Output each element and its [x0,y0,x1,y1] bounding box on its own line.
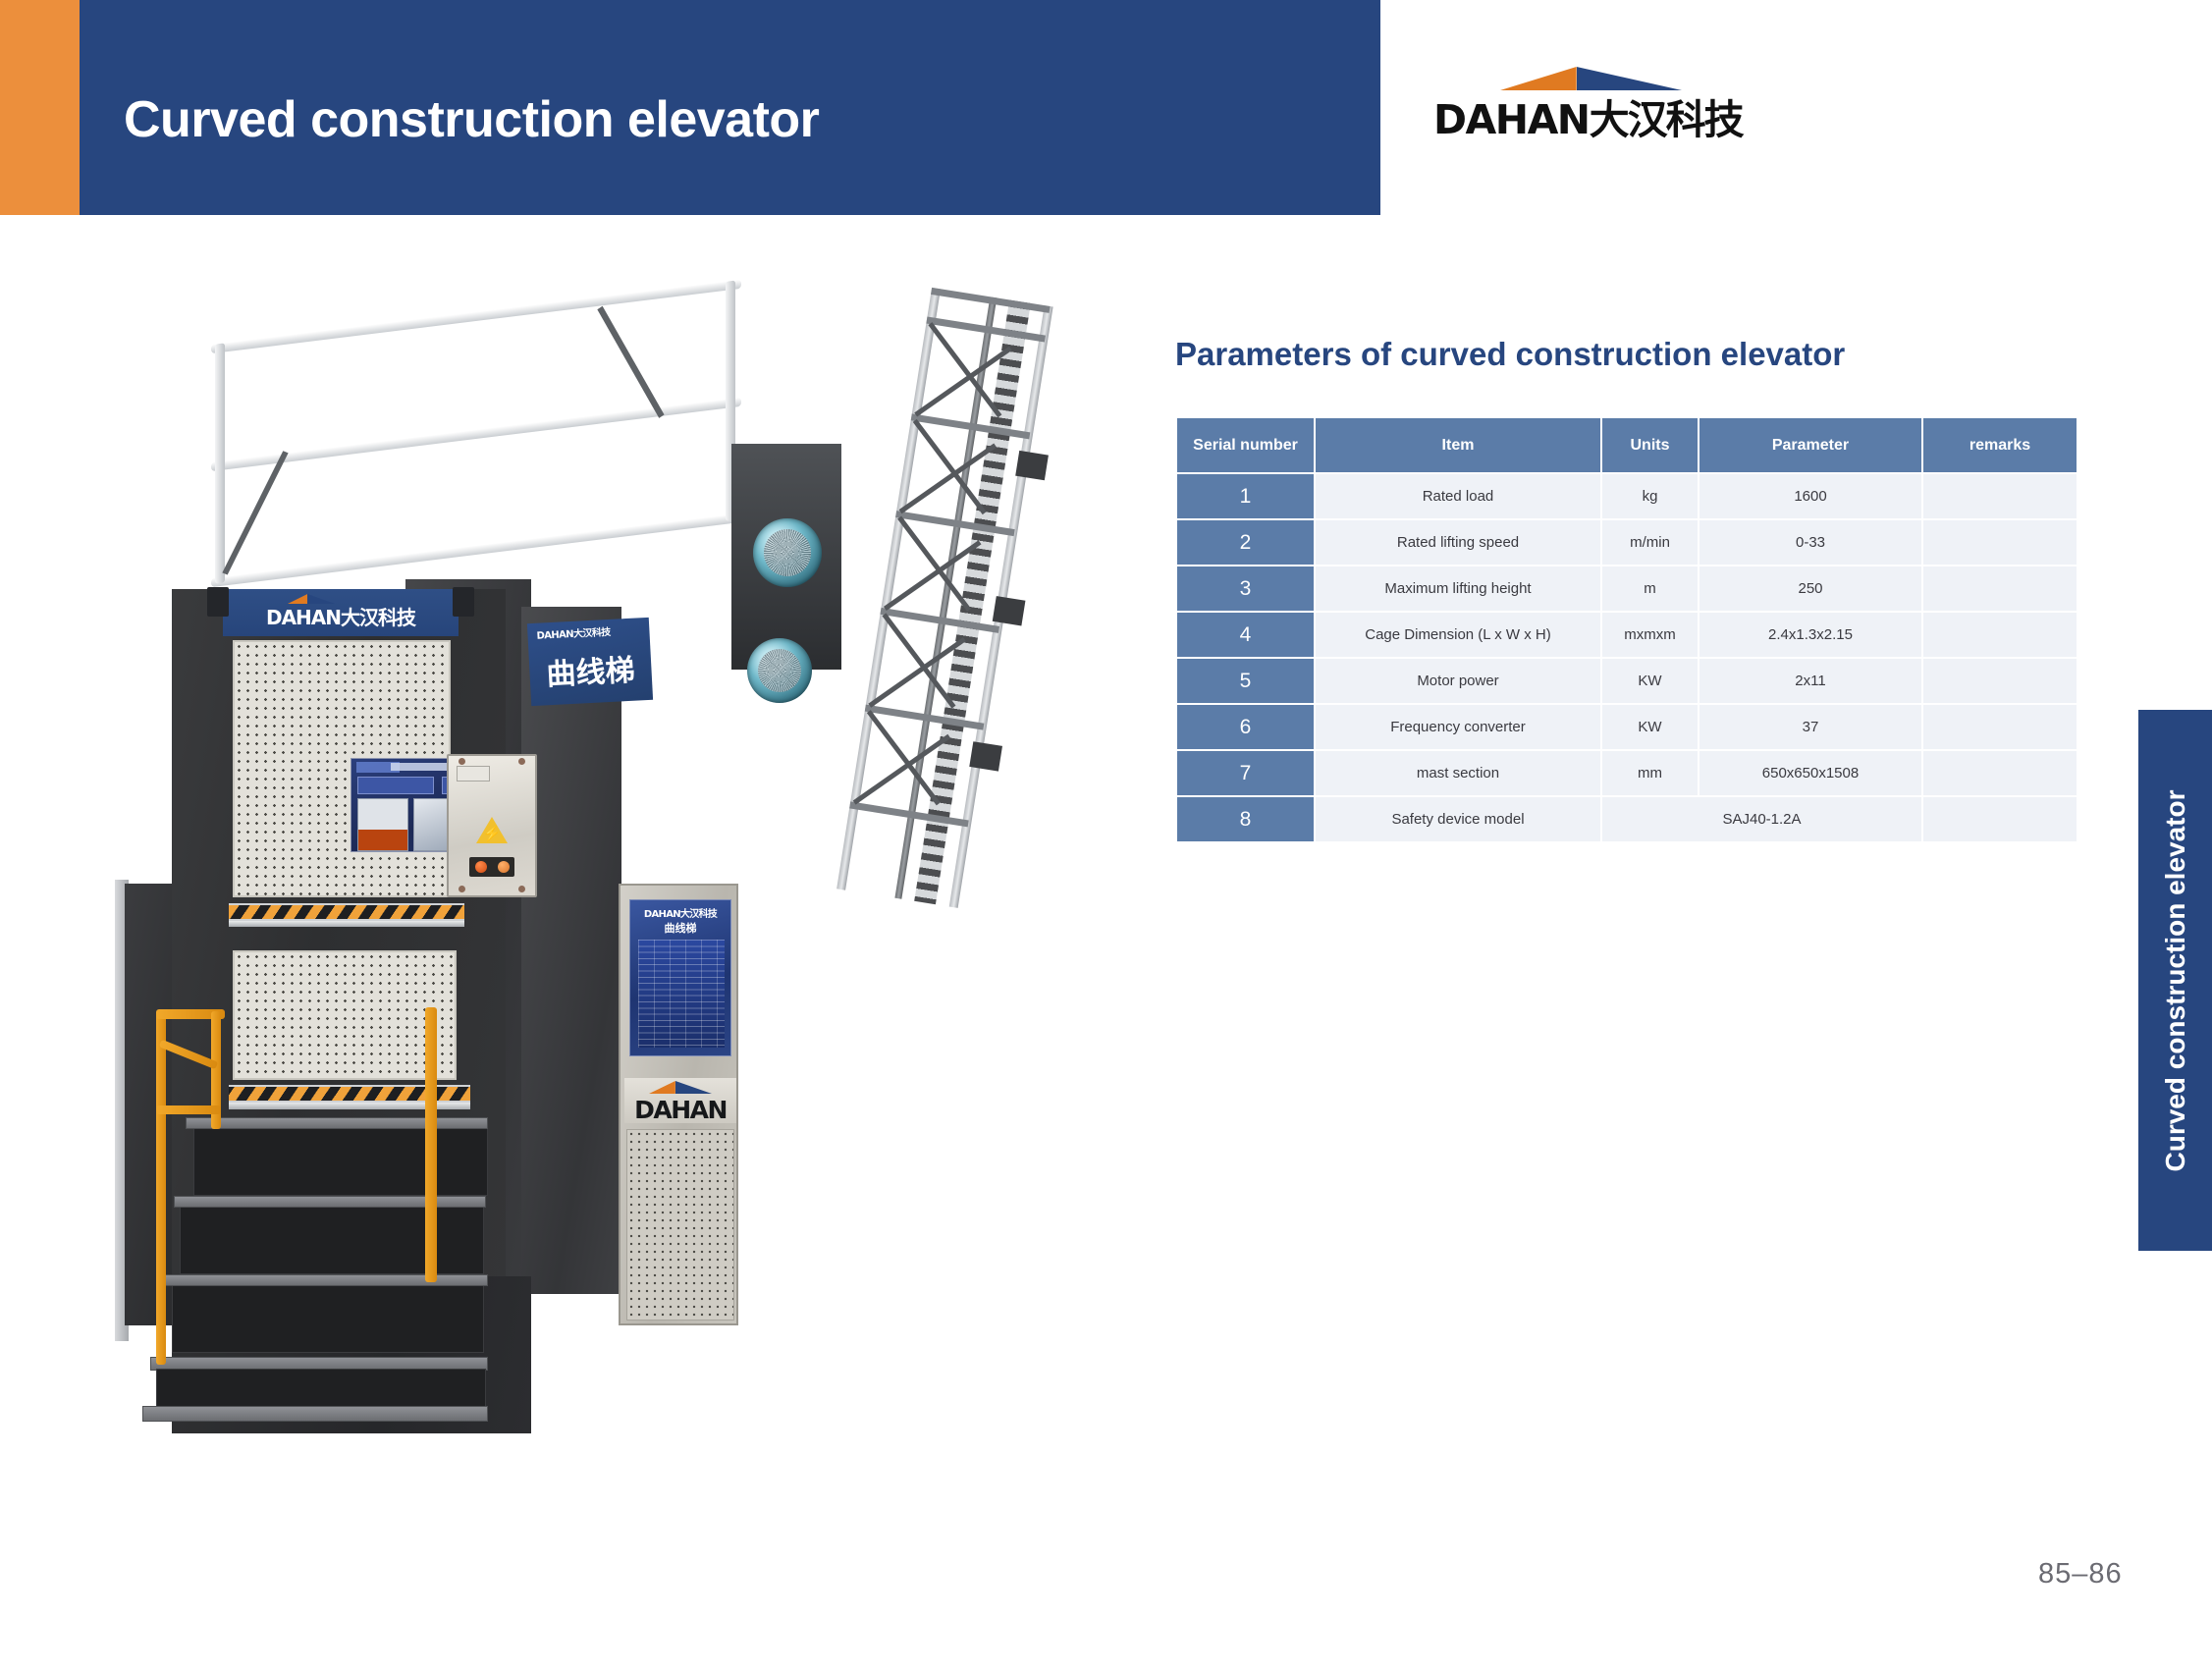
railing-post [215,343,225,583]
door-sill-upper [229,921,464,927]
cell-parameter: 2x11 [1699,659,1921,703]
motor-fins [758,649,802,693]
roof-left-wing [288,594,307,604]
cell-parameter: 0-33 [1699,520,1921,565]
mast-side-plate [521,607,621,1294]
electrical-control-cabinet: ⚡ [447,754,537,897]
cell-remarks [1923,751,2077,795]
table-row: 5 Motor power KW 2x11 [1177,659,2077,703]
roof-right-wing [675,1081,712,1094]
cabinet-bolt [518,886,525,892]
brand-logo-chinese: 大汉科技 [1590,96,1743,143]
brand-plate-text: DAHAN [634,1098,727,1122]
cell-item: Rated load [1316,474,1600,518]
roof-logo-icon [288,594,335,604]
mast-diagonal [867,710,941,805]
column-header-serial-number: Serial number [1177,418,1314,472]
table-row: 2 Rated lifting speed m/min 0-33 [1177,520,2077,565]
cell-serial: 7 [1177,751,1314,795]
cell-serial: 5 [1177,659,1314,703]
stair-riser [180,1204,484,1274]
page-number: 85–86 [2038,1558,2123,1590]
cabinet-bolt [459,886,465,892]
stair-tread [164,1274,488,1286]
lattice-mast-tower [802,282,1150,923]
cell-item: Rated lifting speed [1316,520,1600,565]
page-header-band: Curved construction elevator [0,0,1380,215]
handrail-lower-cap[interactable] [156,1105,221,1114]
handrail-post-right[interactable] [425,1007,437,1282]
spec-board-brand: DAHAN大汉科技 [644,905,717,920]
hazard-stripe-upper [229,903,464,921]
cell-units: kg [1602,474,1698,518]
table-header-row: Serial number Item Units Parameter remar… [1177,418,2077,472]
spec-board: DAHAN大汉科技 曲线梯 [629,899,731,1056]
cell-parameter: 650x650x1508 [1699,751,1921,795]
cell-item: Safety device model [1316,797,1600,841]
roof-logo-icon [649,1081,712,1094]
cell-remarks [1923,520,2077,565]
brand-logo-text: DAHAN大汉科技 [1433,86,1743,145]
column-header-units: Units [1602,418,1698,472]
cell-item: Cage Dimension (L x W x H) [1316,613,1600,657]
access-stair-assembly [172,1060,506,1473]
mast-product-sign: DAHAN大汉科技 曲线梯 [527,618,653,706]
sign-product-name: 曲线梯 [545,646,635,694]
cell-remarks [1923,613,2077,657]
product-photo: DAHAN大汉科技 曲线梯 DAHAN大汉科技 ⚡ [172,295,967,1433]
cell-item: Frequency converter [1316,705,1600,749]
roof-guard-railing [211,272,741,602]
cell-serial: 4 [1177,613,1314,657]
cell-units: m/min [1602,520,1698,565]
table-row: 3 Maximum lifting height m 250 [1177,566,2077,611]
roof-right-wing [307,594,335,604]
cell-serial: 3 [1177,566,1314,611]
cage-corner-plate [453,587,474,617]
spec-board-table [638,940,725,1048]
handrail-post-upper-left[interactable] [156,1013,166,1115]
cell-remarks [1923,474,2077,518]
cell-item: mast section [1316,751,1600,795]
sign-brand-label: DAHAN大汉科技 [536,623,611,642]
table-row: 6 Frequency converter KW 37 [1177,705,2077,749]
page-title: Curved construction elevator [124,90,819,149]
cell-parameter: 37 [1699,705,1921,749]
cell-serial: 2 [1177,520,1314,565]
cell-parameter: 250 [1699,566,1921,611]
stair-riser [172,1282,484,1353]
cell-serial: 8 [1177,797,1314,841]
brand-logo: DAHAN大汉科技 [1433,67,1728,134]
stair-tread [174,1196,486,1208]
column-header-remarks: remarks [1923,418,2077,472]
handrail-post-left[interactable] [156,1105,166,1365]
mast-diagonal [928,322,1001,417]
cage-banner-latin: DAHAN [266,606,341,629]
motor-fins [764,529,811,576]
column-header-parameter: Parameter [1699,418,1921,472]
cell-parameter: 1600 [1699,474,1921,518]
table-row: 8 Safety device model SAJ40-1.2A [1177,797,2077,841]
roof-left-wing [649,1081,675,1094]
table-row: 1 Rated load kg 1600 [1177,474,2077,518]
table-row: 7 mast section mm 650x650x1508 [1177,751,2077,795]
cell-units: KW [1602,659,1698,703]
cell-parameter-merged: SAJ40-1.2A [1602,797,1921,841]
hoist-motor-drum [753,518,822,587]
cell-units: m [1602,566,1698,611]
cell-serial: 1 [1177,474,1314,518]
mast-tie-bracket [969,741,1002,771]
cell-remarks [1923,566,2077,611]
railing-bottom-bar [211,513,741,587]
mast-diagonal [913,419,987,514]
column-header-item: Item [1316,418,1600,472]
header-accent-stripe [0,0,80,215]
hoist-motor-drum [747,638,812,703]
cabinet-indicator-panel [469,857,514,877]
stair-ground-plate [142,1406,488,1422]
railing-brace [222,451,288,574]
poster-caption-block [357,777,434,794]
railing-top-bar [211,280,741,353]
parameters-table: Serial number Item Units Parameter remar… [1175,416,2078,843]
cell-parameter: 2.4x1.3x2.15 [1699,613,1921,657]
side-tab-label: Curved construction elevator [2160,789,2191,1171]
stair-riser [193,1125,488,1196]
parameters-heading: Parameters of curved construction elevat… [1175,336,1845,373]
cell-remarks [1923,659,2077,703]
cell-units: mm [1602,751,1698,795]
cell-remarks [1923,797,2077,841]
cage-banner-text: DAHAN大汉科技 [266,602,415,630]
cabinet-bolt [518,758,525,765]
railing-brace [597,306,664,418]
cell-item: Motor power [1316,659,1600,703]
cage-brand-banner: DAHAN大汉科技 [223,589,459,636]
indicator-lamp-red[interactable] [475,861,487,873]
cabinet-bolt [459,758,465,765]
cell-serial: 6 [1177,705,1314,749]
mast-diagonal [882,613,955,708]
cabinet-nameplate [457,766,490,782]
mast-tie-bracket [1015,451,1049,480]
section-side-tab: Curved construction elevator [2138,710,2212,1251]
mast-tie-bracket [993,596,1026,625]
mast-diagonal [897,516,971,612]
cage-corner-plate [207,587,229,617]
brand-logo-latin: DAHAN [1433,96,1590,143]
cell-units: KW [1602,705,1698,749]
poster-photo [357,798,408,851]
spec-board-product-name: 曲线梯 [665,920,697,936]
cell-remarks [1923,705,2077,749]
lightning-bolt-glyph: ⚡ [483,827,502,841]
spec-board-cabinet: DAHAN大汉科技 曲线梯 DAHAN [619,884,738,1325]
stair-tread [186,1117,488,1129]
cage-banner-chinese: 大汉科技 [341,606,415,629]
brand-plate: DAHAN [624,1078,736,1123]
cabinet-mesh-panel [626,1129,734,1321]
cell-units: mxmxm [1602,613,1698,657]
indicator-lamp-amber[interactable] [498,861,510,873]
cell-item: Maximum lifting height [1316,566,1600,611]
railing-mid-bar [211,398,741,471]
table-row: 4 Cage Dimension (L x W x H) mxmxm 2.4x1… [1177,613,2077,657]
